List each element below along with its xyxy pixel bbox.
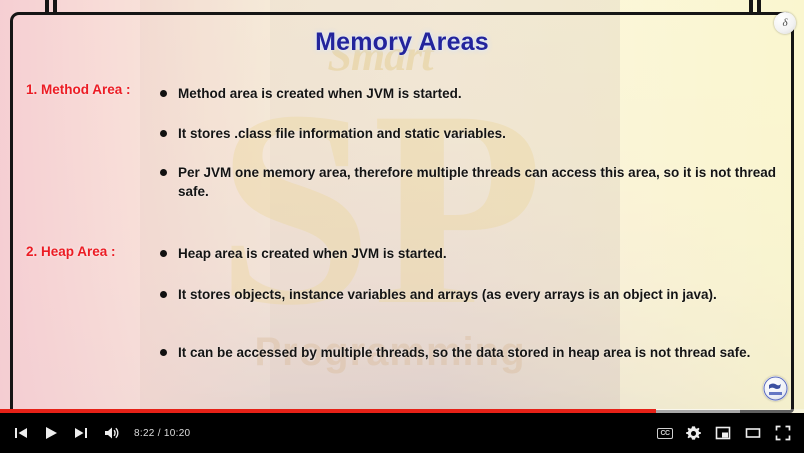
bullet-text: Method area is created when JVM is start… — [178, 84, 782, 103]
bullet-dot-icon — [160, 250, 167, 257]
section-label-method-area: 1. Method Area : — [26, 82, 166, 97]
bullet-item: Heap area is created when JVM is started… — [160, 244, 782, 263]
bullet-item: Per JVM one memory area, therefore multi… — [160, 163, 782, 201]
play-button[interactable] — [36, 418, 66, 448]
bullet-dot-icon — [160, 130, 167, 137]
subtitles-button[interactable]: CC — [652, 418, 678, 448]
theater-button[interactable] — [738, 418, 768, 448]
slide-title: Memory Areas — [0, 28, 804, 57]
bullet-text: It stores .class file information and st… — [178, 124, 782, 143]
background-band-left — [140, 0, 270, 453]
frame-tick-left-icon — [45, 0, 58, 12]
bullet-dot-icon — [160, 349, 167, 356]
fullscreen-button[interactable] — [768, 418, 798, 448]
player-control-bar: 8:22 / 10:20 CC — [0, 413, 804, 453]
bullet-item: Method area is created when JVM is start… — [160, 84, 782, 103]
bullet-dot-icon — [160, 291, 167, 298]
cc-icon: CC — [657, 428, 672, 439]
video-surface[interactable]: Smart SP Programming δ Memory Areas 1. M… — [0, 0, 804, 453]
watermark-monogram: SP — [140, 58, 620, 358]
time-display: 8:22 / 10:20 — [134, 428, 190, 439]
bullet-dot-icon — [160, 90, 167, 97]
channel-watermark-icon[interactable] — [763, 376, 788, 401]
previous-button[interactable] — [6, 418, 36, 448]
bullet-item: It can be accessed by multiple threads, … — [160, 343, 782, 362]
video-player: Smart SP Programming δ Memory Areas 1. M… — [0, 0, 804, 453]
bullet-item: It stores objects, instance variables an… — [160, 285, 782, 304]
next-button[interactable] — [66, 418, 96, 448]
background-band-center — [270, 0, 620, 453]
bullet-item: It stores .class file information and st… — [160, 124, 782, 143]
section-label-heap-area: 2. Heap Area : — [26, 244, 166, 259]
miniplayer-button[interactable] — [708, 418, 738, 448]
bullet-text: It can be accessed by multiple threads, … — [178, 343, 782, 362]
bullet-text: Per JVM one memory area, therefore multi… — [178, 163, 782, 201]
settings-button[interactable] — [678, 418, 708, 448]
bullet-dot-icon — [160, 169, 167, 176]
bullet-text: It stores objects, instance variables an… — [178, 285, 782, 304]
volume-button[interactable] — [96, 418, 126, 448]
frame-tick-right-icon — [749, 0, 762, 12]
bullet-text: Heap area is created when JVM is started… — [178, 244, 782, 263]
